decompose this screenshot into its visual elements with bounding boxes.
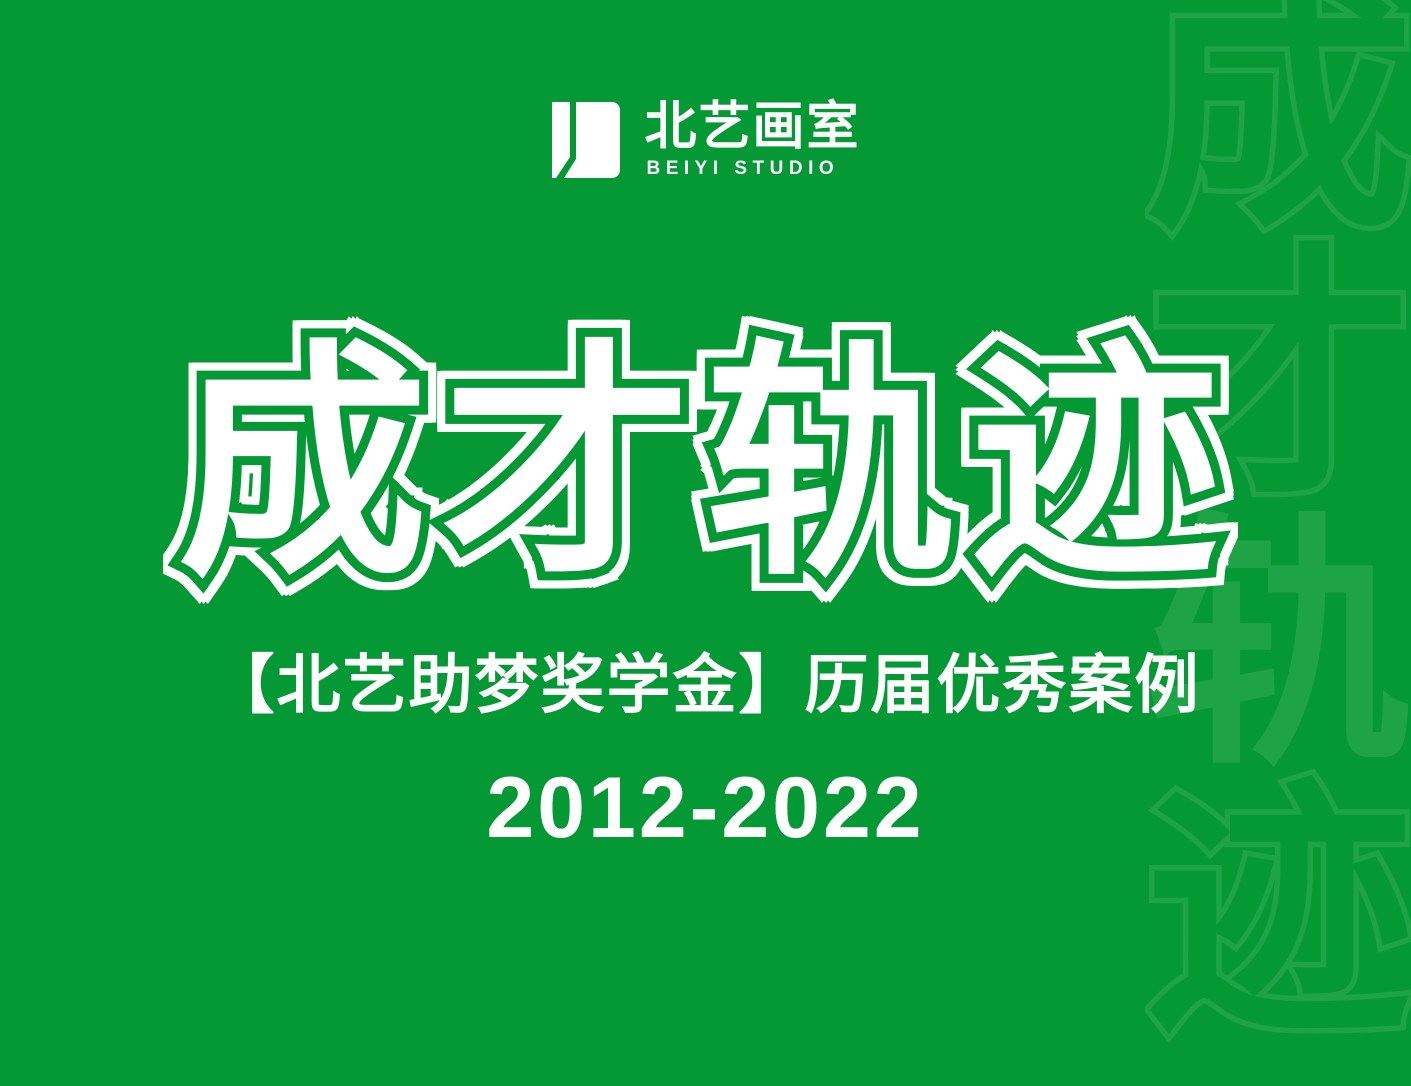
brand-wordmark-cn: 北艺画室 [644, 98, 860, 156]
poster-stage: 北艺画室 BEIYI STUDIO 成才轨迹 成才轨迹 成才轨迹 【北艺助梦奖学… [0, 0, 1411, 1086]
year-range: 2012-2022 [0, 760, 1411, 856]
brand-logo: 北艺画室 BEIYI STUDIO [0, 98, 1411, 180]
page-title-core: 成才轨迹 [178, 340, 1234, 590]
brand-wordmark-en: BEIYI STUDIO [644, 158, 839, 180]
page-title: 成才轨迹 成才轨迹 成才轨迹 [178, 340, 1234, 590]
headline-container: 成才轨迹 成才轨迹 成才轨迹 [0, 300, 1411, 630]
brand-logo-lockup: 北艺画室 BEIYI STUDIO [550, 98, 860, 180]
page-subtitle: 【北艺助梦奖学金】历届优秀案例 [0, 644, 1411, 728]
brand-wordmark-block: 北艺画室 BEIYI STUDIO [644, 98, 860, 180]
book-logo-icon [550, 100, 622, 180]
